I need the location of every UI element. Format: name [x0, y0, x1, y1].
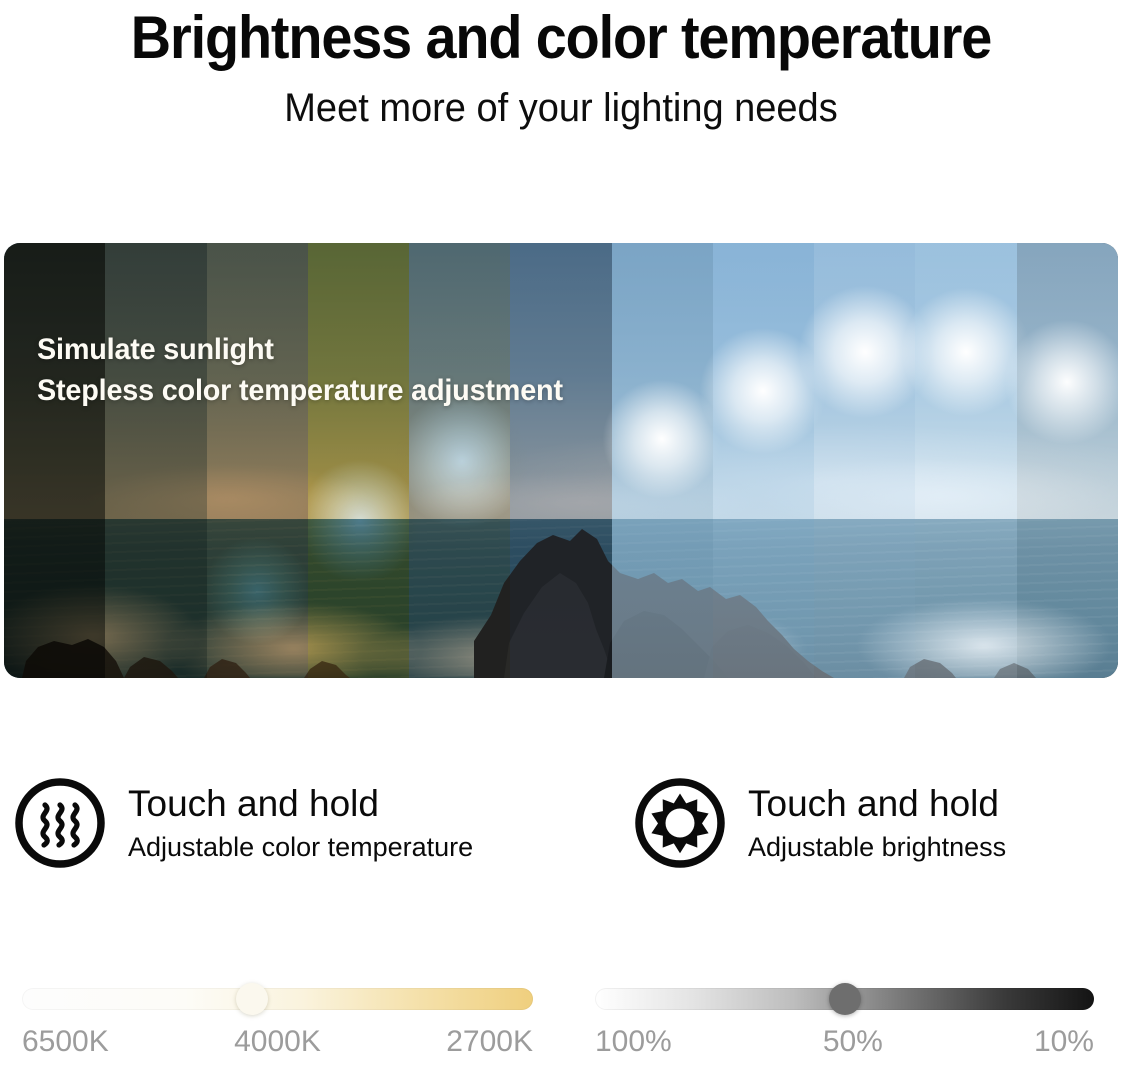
page-subtitle: Meet more of your lighting needs [28, 82, 1094, 134]
feature-row: Touch and hold Adjustable color temperat… [0, 777, 1122, 869]
color-temperature-slider-thumb[interactable] [236, 983, 268, 1015]
band-4 [308, 243, 409, 678]
band-2 [105, 243, 206, 678]
band-5 [409, 243, 510, 678]
band-10 [915, 243, 1016, 678]
band-9 [814, 243, 915, 678]
feature-subtitle: Adjustable brightness [748, 829, 1006, 865]
tick-label-ct-2: 2700K [446, 1024, 533, 1060]
hero-caption-line1: Simulate sunlight [37, 329, 563, 370]
feature-brightness: Touch and hold Adjustable brightness [0, 777, 634, 869]
color-temperature-ticks: 6500K 4000K 2700K [22, 1024, 533, 1060]
sun-brightness-icon [634, 777, 726, 869]
color-temperature-slider[interactable] [22, 988, 533, 1010]
page-title: Brightness and color temperature [39, 2, 1082, 74]
band-1 [4, 243, 105, 678]
band-7 [612, 243, 713, 678]
slider-row: 6500K 4000K 2700K 100% 50% 10% [0, 988, 1122, 1060]
brightness-slider-group: 100% 50% 10% [561, 988, 1122, 1060]
hero-banner: Simulate sunlight Stepless color tempera… [4, 243, 1118, 678]
tick-label-br-2: 10% [1034, 1024, 1094, 1060]
tick-label-br-1: 50% [823, 1024, 883, 1060]
sun-glow-9 [798, 285, 932, 419]
feature-title: Touch and hold [748, 782, 1006, 826]
sun-glow-8 [699, 327, 827, 455]
sun-glow-3 [203, 537, 311, 645]
band-6 [510, 243, 611, 678]
tick-label-ct-1: 4000K [234, 1024, 321, 1060]
hero-caption: Simulate sunlight Stepless color tempera… [37, 329, 563, 411]
brightness-slider-thumb[interactable] [829, 983, 861, 1015]
header: Brightness and color temperature Meet mo… [0, 0, 1122, 134]
band-3 [207, 243, 308, 678]
sun-glow-10 [901, 287, 1031, 417]
brightness-slider[interactable] [595, 988, 1094, 1010]
brightness-ticks: 100% 50% 10% [595, 1024, 1094, 1060]
band-11 [1017, 243, 1118, 678]
feature-text: Touch and hold Adjustable brightness [748, 782, 1006, 865]
band-8 [713, 243, 814, 678]
tick-label-ct-0: 6500K [22, 1024, 109, 1060]
sun-glow-4 [298, 459, 422, 583]
tick-label-br-0: 100% [595, 1024, 672, 1060]
hero-caption-line2: Stepless color temperature adjustment [37, 370, 563, 411]
color-temperature-bands [4, 243, 1118, 678]
sun-glow-11 [1004, 319, 1118, 445]
color-temperature-slider-group: 6500K 4000K 2700K [0, 988, 561, 1060]
sun-glow-5 [394, 393, 530, 529]
sun-glow-7 [602, 379, 722, 499]
